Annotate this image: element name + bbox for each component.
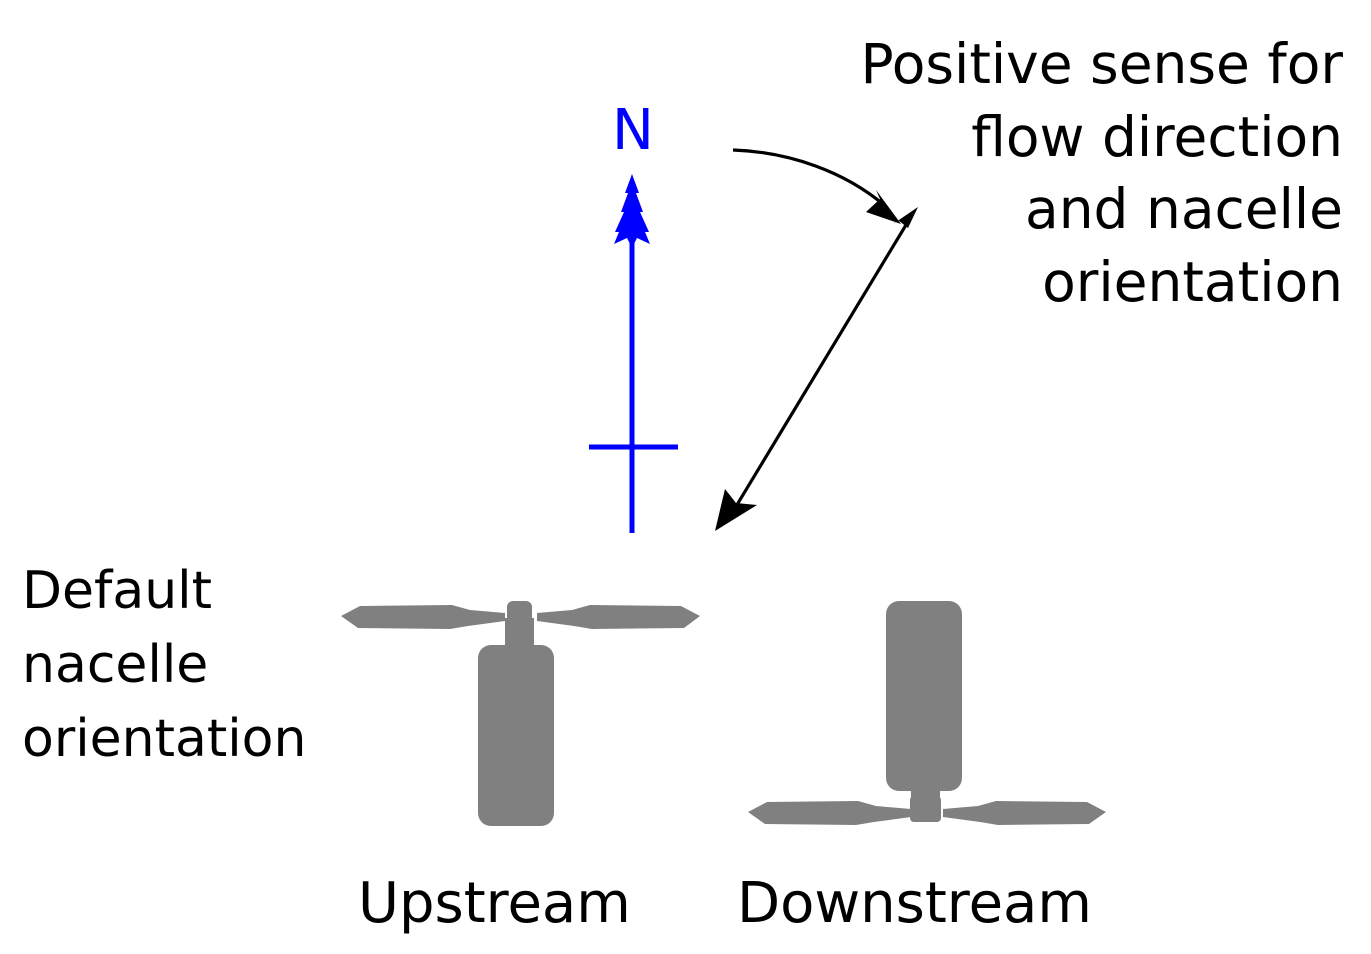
diagram-root: Positive sense for flow direction and na… [0, 0, 1371, 954]
upstream-caption: Upstream [358, 868, 631, 941]
north-compass [589, 174, 678, 533]
upstream-turbine [341, 601, 700, 826]
compass-north-arrowhead [614, 174, 650, 244]
compass-north-label: N [612, 95, 654, 168]
default-nacelle-annotation: Default nacelle orientation [22, 555, 306, 776]
double-arrow-head-lower [715, 489, 757, 531]
downstream-nacelle-body [886, 601, 962, 791]
downstream-hub [910, 796, 941, 822]
downstream-blade-left [748, 801, 911, 825]
upstream-blade-left [341, 605, 505, 629]
downstream-blade-right [943, 801, 1106, 825]
upstream-blade-right [537, 605, 700, 629]
downstream-caption: Downstream [737, 868, 1092, 941]
upstream-nacelle-body [478, 645, 554, 826]
positive-sense-annotation: Positive sense for flow direction and na… [861, 28, 1343, 318]
downstream-turbine [748, 601, 1106, 825]
